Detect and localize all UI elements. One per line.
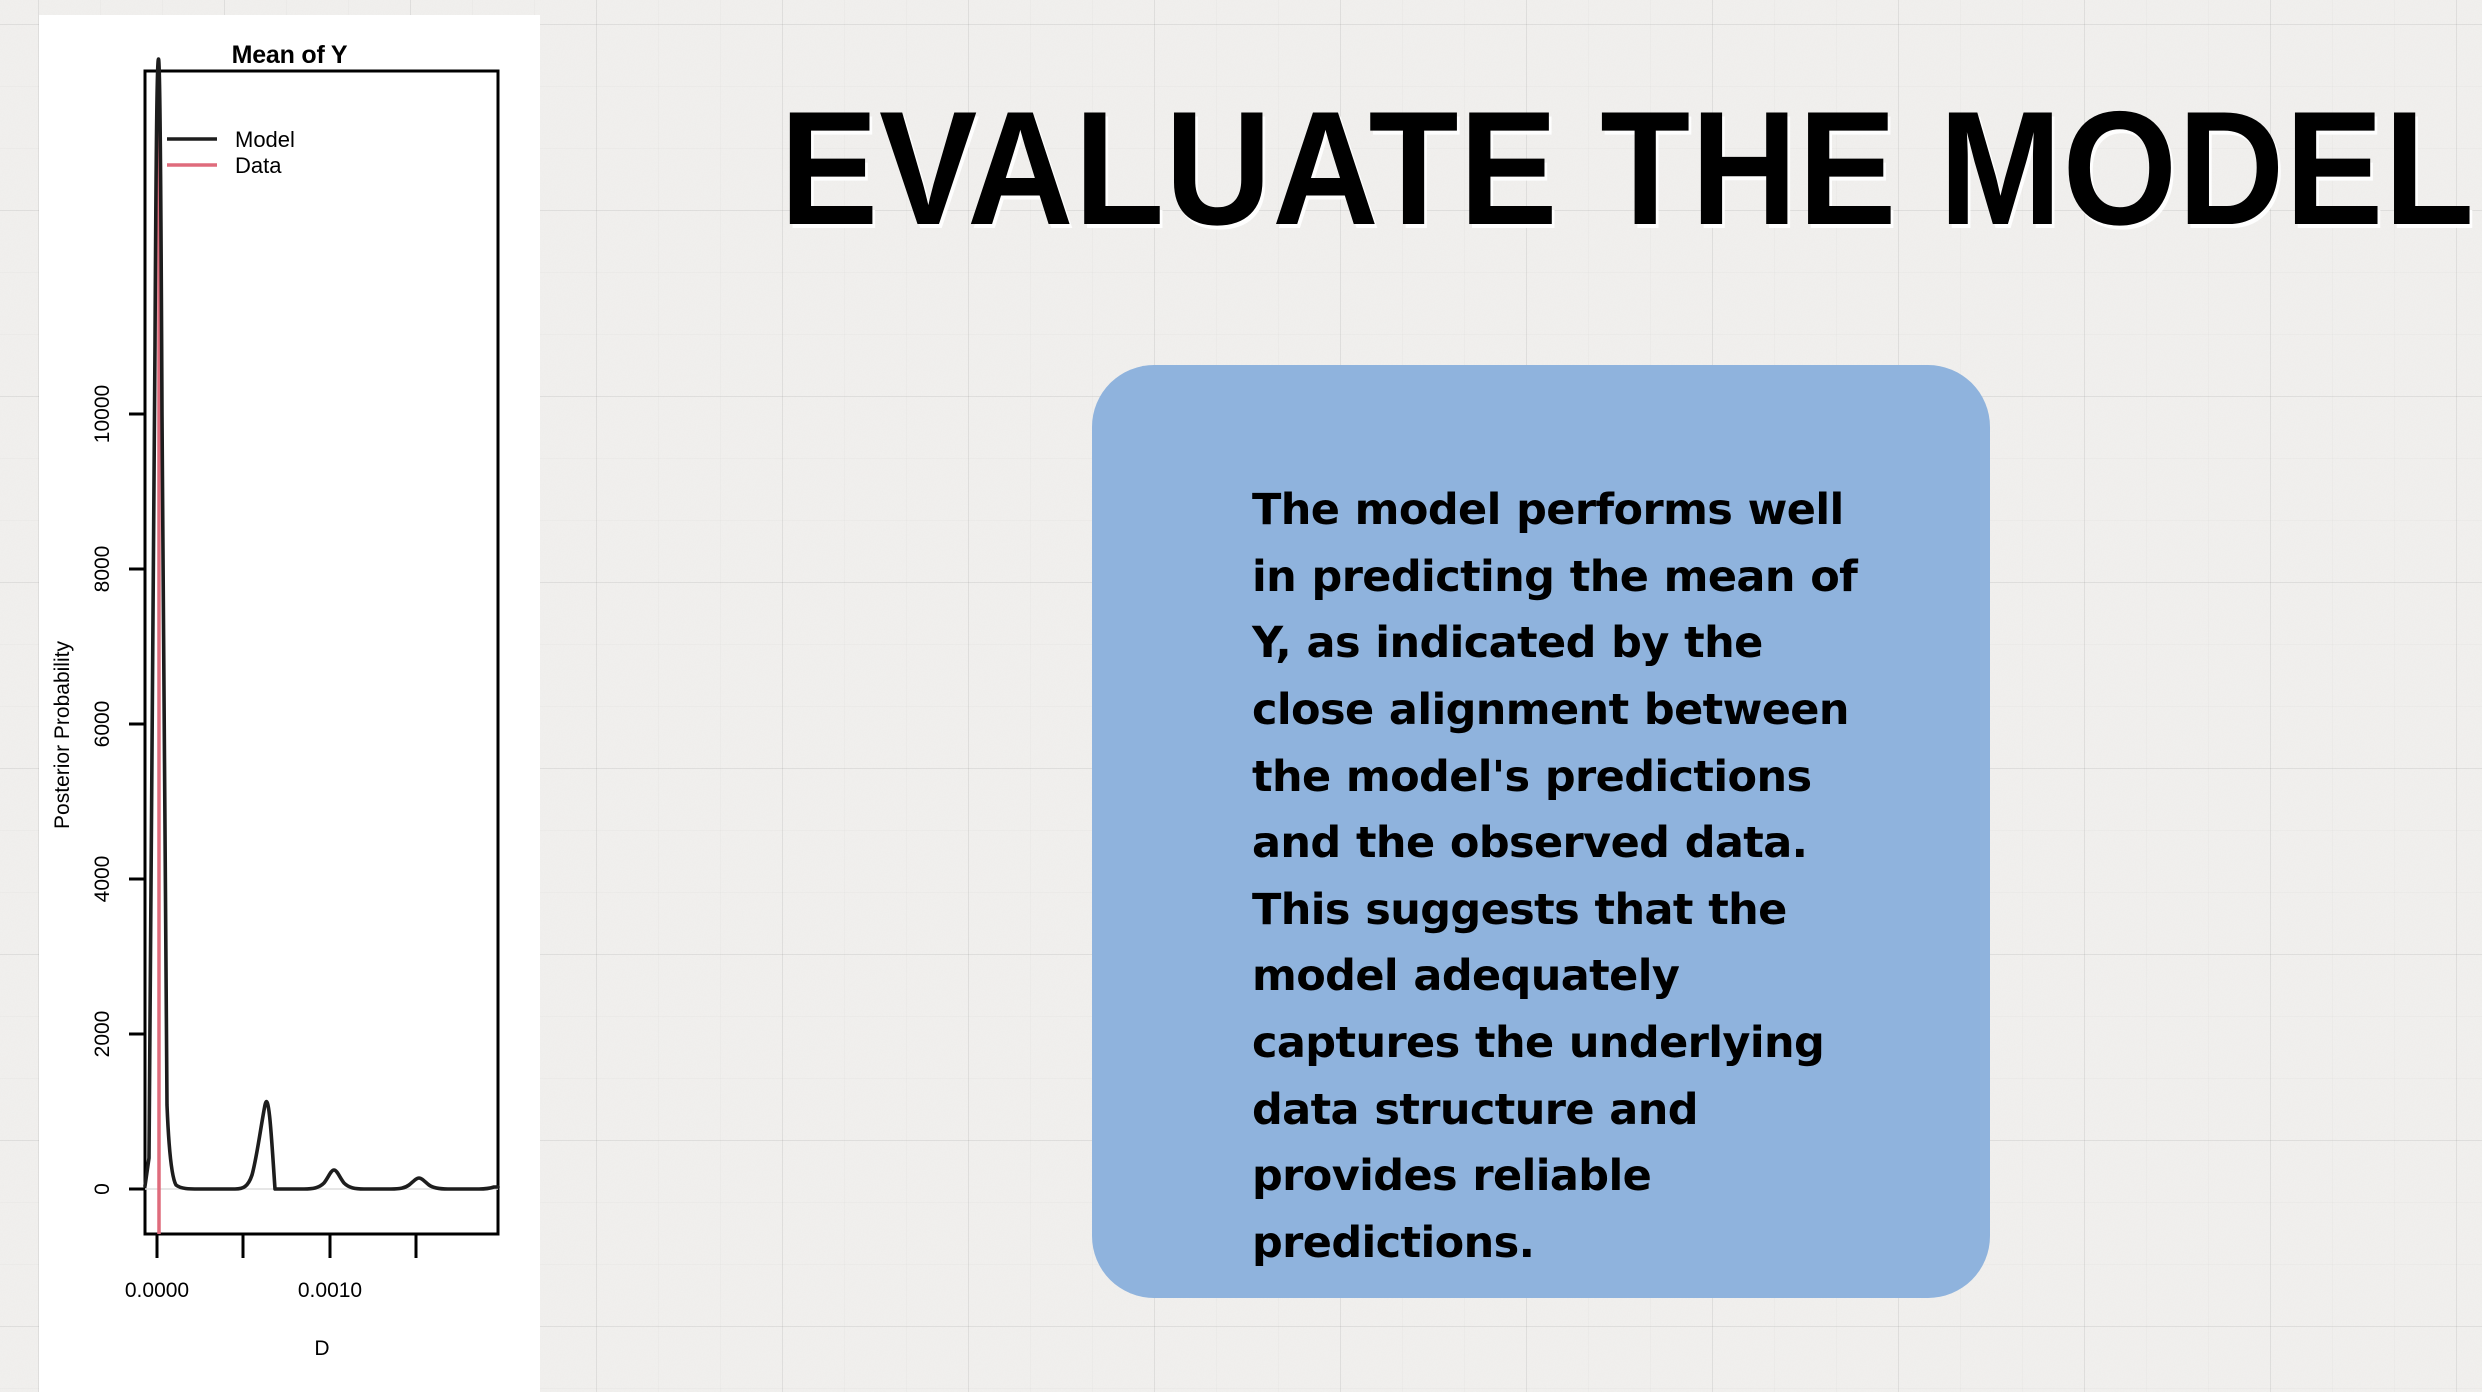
ytick-label-4000: 4000 <box>91 856 114 903</box>
ytick-label-0: 0 <box>91 1183 114 1195</box>
chart-panel: Mean of Y 0 2000 4000 6000 8000 10000 Po… <box>39 15 540 1392</box>
ytick-label-8000: 8000 <box>91 546 114 593</box>
callout-body-text: The model performs well in predicting th… <box>1252 477 1892 1277</box>
ytick-label-2000: 2000 <box>91 1011 114 1058</box>
model-density-curve <box>145 59 498 1189</box>
callout-card: The model performs well in predicting th… <box>1092 365 1990 1298</box>
page-title: EVALUATE THE MODEL <box>780 88 2324 250</box>
xtick-label-0: 0.0000 <box>125 1279 189 1302</box>
ytick-label-10000: 10000 <box>91 385 114 443</box>
y-axis-title: Posterior Probability <box>51 641 74 829</box>
chart-legend: Model Data <box>167 127 295 178</box>
posterior-density-plot: 0 2000 4000 6000 8000 10000 Posterior Pr… <box>39 15 540 1392</box>
legend-label-data: Data <box>235 153 282 178</box>
legend-label-model: Model <box>235 127 295 152</box>
ytick-label-6000: 6000 <box>91 701 114 748</box>
xtick-label-0010: 0.0010 <box>298 1279 362 1302</box>
x-axis-title: D <box>314 1337 329 1360</box>
